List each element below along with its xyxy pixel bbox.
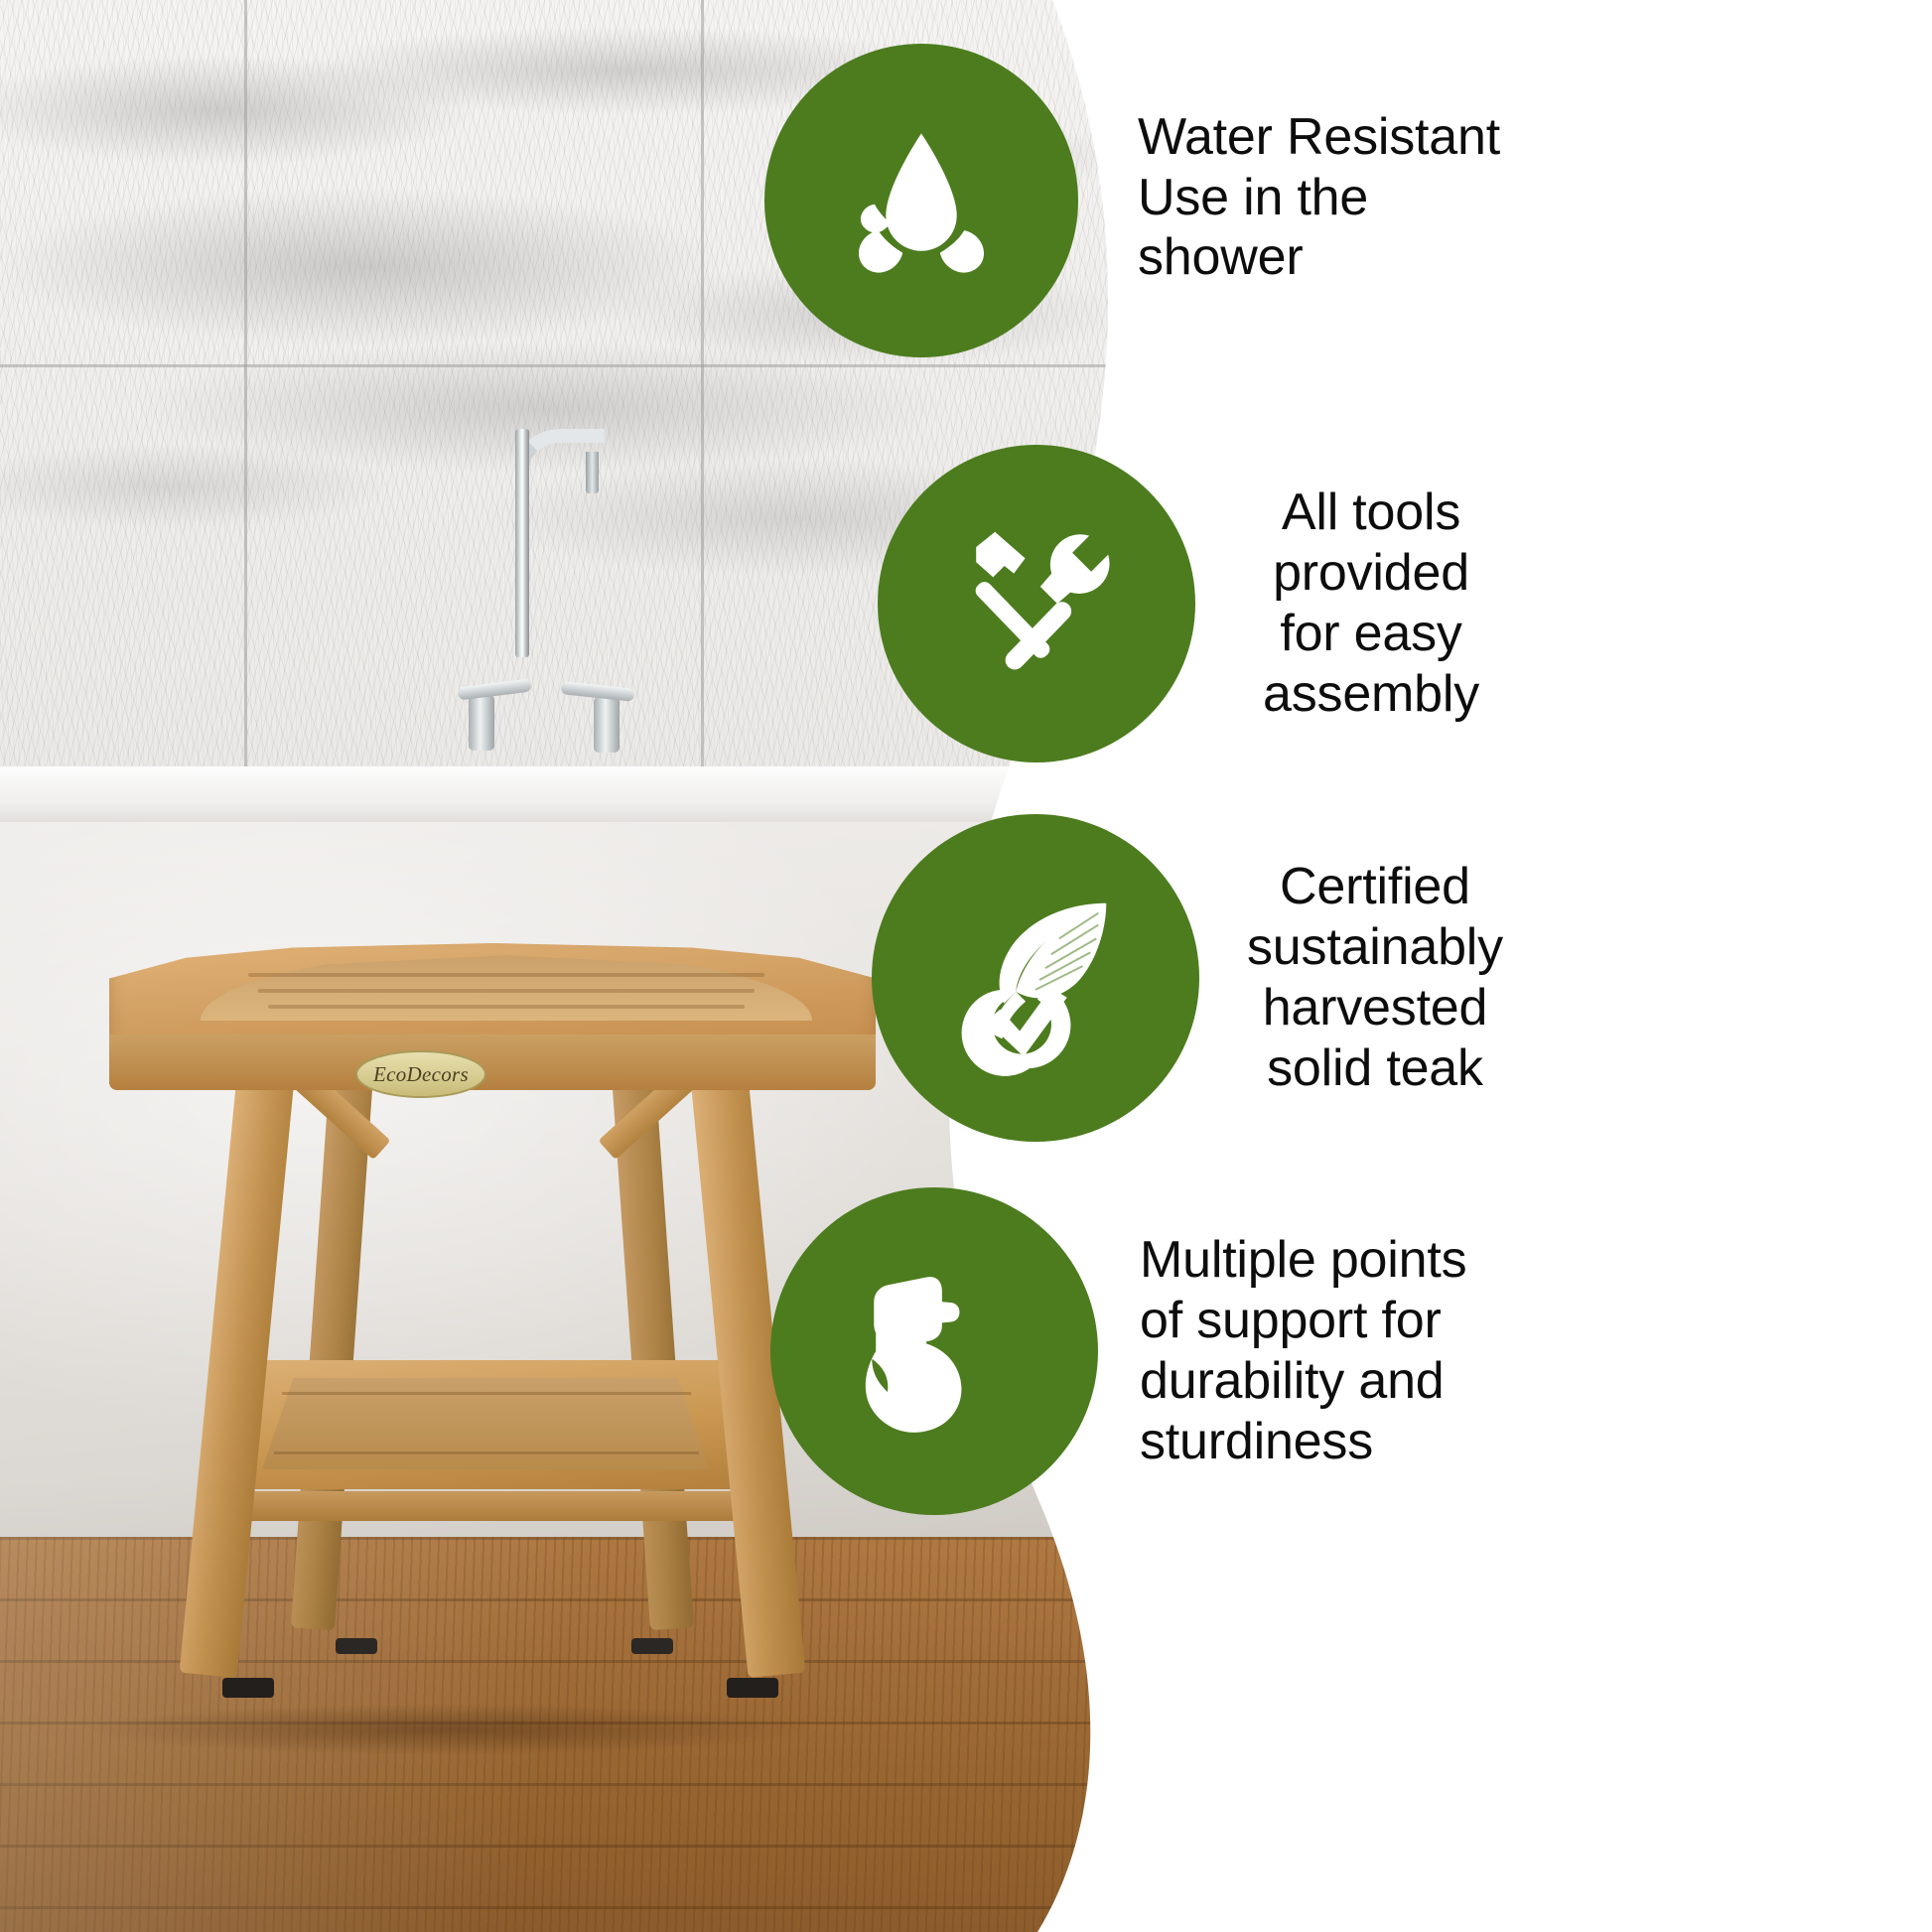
feature-item-water-resistant[interactable]: Water Resistant Use in the shower bbox=[764, 44, 1500, 357]
water-drop-splash-icon bbox=[828, 107, 1015, 294]
feature-icon-badge bbox=[764, 44, 1078, 357]
feature-item-tools-included[interactable]: All tools provided for easy assembly bbox=[878, 445, 1479, 762]
feature-label: Certified sustainably harvested solid te… bbox=[1247, 857, 1503, 1098]
hammer-wrench-icon bbox=[942, 509, 1131, 698]
feature-icon-badge bbox=[878, 445, 1195, 762]
feature-item-sustainably-harvested[interactable]: Certified sustainably harvested solid te… bbox=[872, 814, 1503, 1142]
flexed-bicep-icon bbox=[837, 1254, 1032, 1449]
feature-label: Water Resistant Use in the shower bbox=[1138, 107, 1500, 288]
feature-label: Multiple points of support for durabilit… bbox=[1140, 1230, 1466, 1471]
infographic-canvas: EcoDecors Water Resistant Use in the sho… bbox=[0, 0, 1932, 1932]
feature-item-durable-support[interactable]: Multiple points of support for durabilit… bbox=[770, 1187, 1466, 1515]
feature-label: All tools provided for easy assembly bbox=[1263, 483, 1479, 724]
leaf-checkmark-icon bbox=[937, 880, 1134, 1076]
feature-icon-badge bbox=[770, 1187, 1098, 1515]
feature-icon-badge bbox=[872, 814, 1199, 1142]
feature-list: Water Resistant Use in the shower All to… bbox=[0, 0, 1932, 1932]
